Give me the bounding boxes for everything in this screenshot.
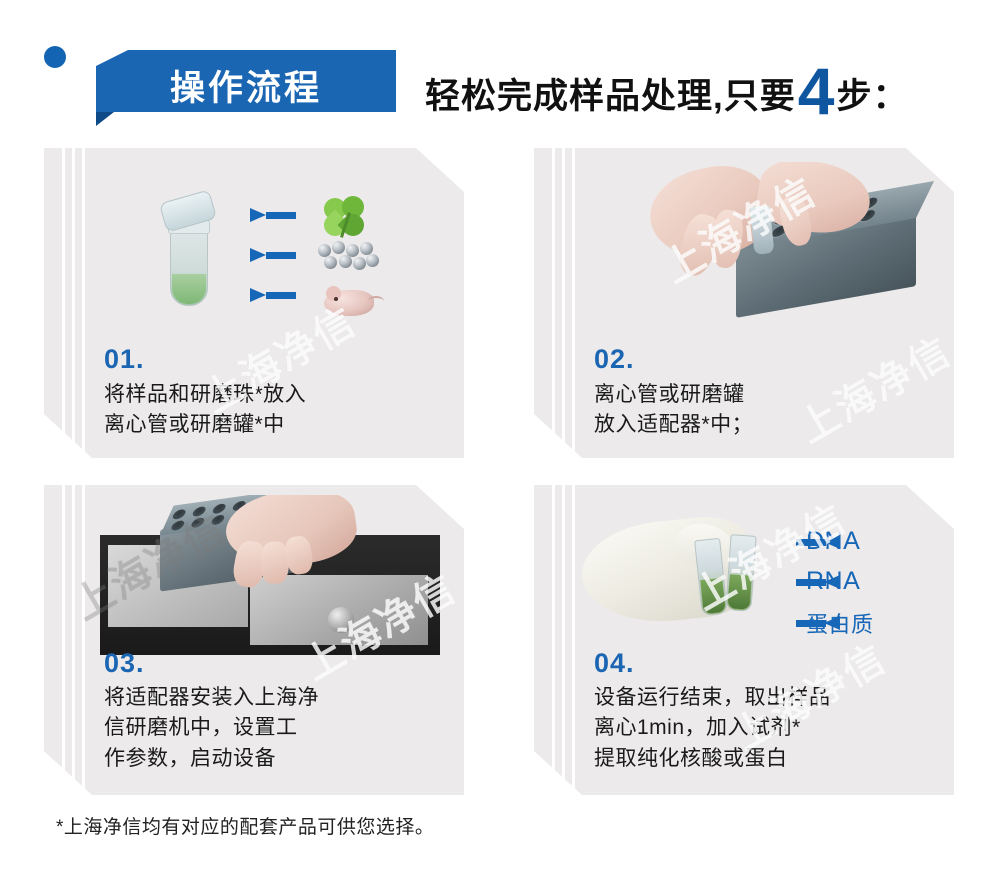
mouse-icon: [318, 280, 382, 320]
page-header: 操作流程 轻松完成样品处理,只要 4 步：: [0, 0, 1000, 130]
grinding-beads-icon: [316, 240, 382, 274]
step-number-02: 02.: [594, 344, 635, 375]
output-row-rna: RNA: [796, 567, 860, 596]
centrifuge-tube-icon: [144, 186, 234, 326]
page-root: 操作流程 轻松完成样品处理,只要 4 步：: [0, 0, 1000, 875]
slogan-prefix: 轻松完成样品处理,只要: [425, 68, 796, 119]
output-row-dna: DNA: [796, 527, 860, 556]
step-card-01: 01. 将样品和研磨珠*放入 离心管或研磨罐*中 上海净信 上海净信: [44, 148, 464, 458]
arrow-left-icon-1: [250, 208, 296, 222]
gloved-hand-with-tubes-photo: DNA RNA 蛋白质: [582, 503, 952, 673]
leaf-icon: [322, 196, 374, 238]
tube-and-samples-photo: [114, 176, 434, 336]
step-number-01: 01.: [104, 344, 145, 375]
installing-adapter-in-grinder-photo: [100, 495, 460, 660]
arrow-right-icon-3: [796, 616, 842, 630]
header-dot-icon: [44, 46, 66, 68]
arrow-left-icon-2: [250, 248, 296, 262]
header-ribbon-label: 操作流程: [96, 50, 396, 112]
step-number-03: 03.: [104, 648, 145, 679]
step-text-01: 将样品和研磨珠*放入 离心管或研磨罐*中: [104, 380, 306, 441]
slogan-number: 4: [796, 62, 837, 121]
step-text-04: 设备运行结束，取出样品 离心1min，加入试剂* 提取纯化核酸或蛋白: [594, 683, 831, 774]
footnote: *上海净信均有对应的配套产品可供您选择。: [56, 812, 434, 839]
header-ribbon: 操作流程: [96, 50, 396, 112]
arrow-right-icon-1: [796, 535, 842, 549]
hands-loading-adapter-photo: [586, 162, 946, 342]
header-slogan: 轻松完成样品处理,只要 4 步：: [425, 56, 908, 119]
header-ribbon-tail: [96, 112, 114, 126]
step-text-03: 将适配器安装入上海净 信研磨机中，设置工 作参数，启动设备: [104, 683, 319, 774]
machine-knob-icon: [328, 607, 354, 633]
step-card-03: 03. 将适配器安装入上海净 信研磨机中，设置工 作参数，启动设备 上海净信 上…: [44, 485, 464, 795]
arrow-right-icon-2: [796, 575, 842, 589]
step-card-04: DNA RNA 蛋白质 04. 设备运行结束，取出样品 离心1min，加入试剂*…: [534, 485, 954, 795]
sample-tubes: [690, 533, 776, 625]
step-card-02: 02. 离心管或研磨罐 放入适配器*中； 上海净信 上海净信: [534, 148, 954, 458]
output-row-protein: 蛋白质: [796, 607, 874, 639]
arrow-left-icon-3: [250, 288, 296, 302]
slogan-suffix: 步：: [836, 68, 908, 119]
step-text-02: 离心管或研磨罐 放入适配器*中；: [594, 380, 753, 441]
step-number-04: 04.: [594, 648, 635, 679]
